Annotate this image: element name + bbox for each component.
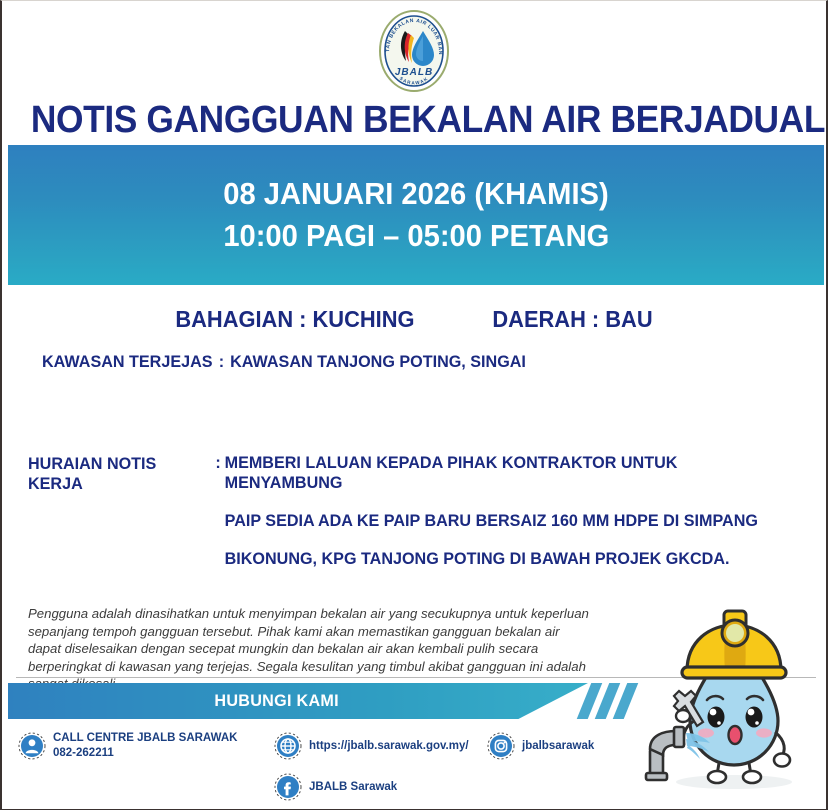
work-description-separator: : (215, 453, 224, 569)
schedule-banner: 08 JANUARI 2026 (KHAMIS) 10:00 PAGI – 05… (8, 145, 824, 285)
work-description-value: MEMBERI LALUAN KEPADA PIHAK KONTRAKTOR U… (225, 453, 786, 569)
work-description-label: HURAIAN NOTIS KERJA (28, 453, 215, 569)
affected-area-separator: : (219, 352, 230, 372)
daerah-value: DAERAH : BAU (492, 306, 652, 333)
logo-container: JABATAN BEKALAN AIR LUAR BANDAR JBALB SA… (2, 9, 826, 93)
notice-poster: JABATAN BEKALAN AIR LUAR BANDAR JBALB SA… (0, 0, 828, 810)
contact-instagram[interactable]: jbalbsarawak (487, 732, 594, 760)
outage-time: 10:00 PAGI – 05:00 PETANG (223, 218, 609, 254)
instagram-icon (487, 732, 515, 760)
disclaimer-text: Pengguna adalah dinasihatkan untuk menyi… (28, 605, 593, 693)
work-description-line: PAIP SEDIA ADA KE PAIP BARU BERSAIZ 160 … (225, 511, 786, 531)
affected-area-label: KAWASAN TERJEJAS (42, 352, 219, 372)
contact-call-centre-text: CALL CENTRE JBALB SARAWAK 082-262211 (53, 731, 237, 760)
jbalb-logo: JABATAN BEKALAN AIR LUAR BANDAR JBALB SA… (375, 9, 453, 93)
page-title: NOTIS GANGGUAN BEKALAN AIR BERJADUAL (31, 99, 797, 142)
facebook-icon (274, 773, 302, 801)
affected-area-value: KAWASAN TANJONG POTING, SINGAI (230, 352, 526, 372)
water-drop-mascot (632, 599, 822, 799)
contact-facebook[interactable]: JBALB Sarawak (274, 773, 397, 801)
work-description-line: MEMBERI LALUAN KEPADA PIHAK KONTRAKTOR U… (225, 453, 786, 493)
contact-website-text: https://jbalb.sarawak.gov.my/ (309, 739, 469, 754)
person-icon (18, 732, 46, 760)
work-description-row: HURAIAN NOTIS KERJA : MEMBERI LALUAN KEP… (28, 453, 786, 569)
contact-call-centre[interactable]: CALL CENTRE JBALB SARAWAK 082-262211 (18, 731, 237, 760)
svg-text:JBALB: JBALB (395, 67, 433, 78)
contact-website[interactable]: https://jbalb.sarawak.gov.my/ (274, 732, 469, 760)
globe-icon (274, 732, 302, 760)
affected-area-row: KAWASAN TERJEJAS : KAWASAN TANJONG POTIN… (42, 352, 526, 372)
bahagian-value: BAHAGIAN : KUCHING (175, 306, 414, 333)
division-district-row: BAHAGIAN : KUCHING DAERAH : BAU (23, 306, 806, 333)
contact-banner: HUBUNGI KAMI (8, 683, 588, 719)
contact-instagram-text: jbalbsarawak (522, 739, 594, 754)
contact-facebook-text: JBALB Sarawak (309, 780, 397, 795)
contact-banner-label: HUBUNGI KAMI (215, 691, 340, 711)
outage-date: 08 JANUARI 2026 (KHAMIS) (223, 176, 608, 212)
work-description-line: BIKONUNG, KPG TANJONG POTING DI BAWAH PR… (225, 549, 786, 569)
